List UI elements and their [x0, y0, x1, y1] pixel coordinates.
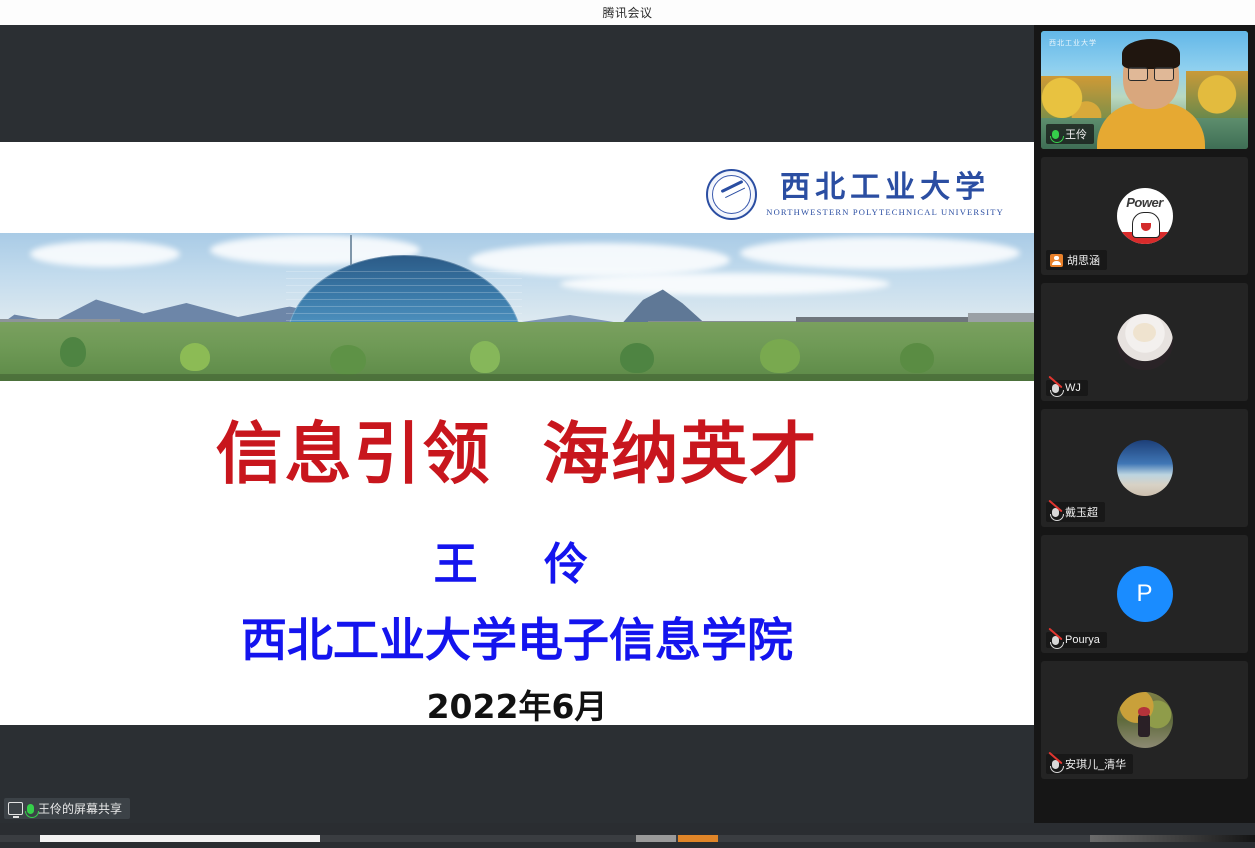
flag-mast [350, 235, 352, 265]
participant-name: 安琪儿_清华 [1065, 756, 1126, 772]
avatar-power-text: Power [1117, 195, 1173, 210]
slide-speaker-name: 王 伶 [0, 528, 1034, 592]
tencent-meeting-window: 腾讯会议 西北工业大学 NORTHWESTERN POLYTECHNICAL U… [0, 0, 1255, 848]
mic-muted-icon [1052, 384, 1059, 393]
os-taskbar[interactable] [0, 823, 1255, 848]
window-titlebar: 腾讯会议 [0, 0, 1255, 26]
participant-name-chip: 王伶 [1046, 124, 1094, 144]
participant-tile[interactable]: WJ [1041, 283, 1248, 401]
mic-muted-icon [1052, 508, 1059, 517]
avatar-mouth [1141, 223, 1151, 231]
tree-shape [60, 337, 86, 367]
participant-name: WJ [1065, 382, 1081, 394]
banner-greenery [0, 322, 1034, 381]
cloud-shape [740, 237, 1020, 269]
monitor-icon [8, 802, 23, 815]
phone-audio-icon [1050, 254, 1063, 267]
participant-name-chip: 戴玉超 [1046, 502, 1105, 522]
taskbar-tray[interactable] [1090, 835, 1255, 842]
screen-share-label: 王伶的屏幕共享 [38, 800, 122, 817]
mic-on-icon [1052, 130, 1059, 139]
participant-name-chip: WJ [1046, 380, 1088, 396]
slide-affiliation: 西北工业大学电子信息学院 [0, 604, 1034, 670]
taskbar-item-highlight[interactable] [678, 835, 718, 842]
tree-shape [760, 339, 800, 373]
slide-headline: 信息引领 海纳英才 [0, 400, 1034, 497]
shared-screen-stage[interactable]: 西北工业大学 NORTHWESTERN POLYTECHNICAL UNIVER… [0, 25, 1034, 823]
video-watermark: 西北工业大学 [1049, 38, 1097, 48]
participant-tile[interactable]: Power 胡思涵 [1041, 157, 1248, 275]
participant-name: 胡思涵 [1067, 252, 1100, 268]
participant-tile[interactable]: 戴玉超 [1041, 409, 1248, 527]
participant-name: 王伶 [1065, 126, 1087, 142]
tree-shape [620, 343, 654, 373]
participant-name-chip: 胡思涵 [1046, 250, 1107, 270]
tree-shape [330, 345, 366, 375]
letterbox-bottom [0, 725, 1034, 823]
participant-name-chip: Pourya [1046, 632, 1107, 648]
avatar: Power [1117, 188, 1173, 244]
participant-rail[interactable]: 西北工业大学 王伶 Power 胡思涵 [1034, 25, 1255, 823]
university-logo: 西北工业大学 NORTHWESTERN POLYTECHNICAL UNIVER… [706, 169, 1004, 220]
participant-name: 戴玉超 [1065, 504, 1098, 520]
logo-name-cn: 西北工业大学 [780, 173, 990, 203]
banner-bottom-shadow [0, 374, 1034, 381]
participant-name-chip: 安琪儿_清华 [1046, 754, 1133, 774]
mic-on-icon [27, 804, 34, 814]
slide-date: 2022年6月 [0, 680, 1034, 725]
participant-tile[interactable]: 西北工业大学 王伶 [1041, 31, 1248, 149]
university-seal-icon [706, 169, 757, 220]
tree-shape [470, 341, 500, 373]
participant-tile[interactable]: 安琪儿_清华 [1041, 661, 1248, 779]
taskbar-item-active[interactable] [40, 835, 320, 842]
campus-banner-image [0, 233, 1034, 381]
window-title: 腾讯会议 [602, 4, 652, 21]
avatar [1117, 692, 1173, 748]
mic-muted-icon [1052, 760, 1059, 769]
avatar-figure [1132, 212, 1160, 238]
participant-tile[interactable]: P Pourya [1041, 535, 1248, 653]
mic-muted-icon [1052, 636, 1059, 645]
cloud-shape [560, 273, 890, 295]
tree-shape [180, 343, 210, 371]
logo-name-en: NORTHWESTERN POLYTECHNICAL UNIVERSITY [766, 207, 1004, 217]
avatar-initial: P [1117, 566, 1173, 622]
presentation-slide: 西北工业大学 NORTHWESTERN POLYTECHNICAL UNIVER… [0, 142, 1034, 725]
person-hair [1122, 39, 1180, 69]
taskbar-item[interactable] [636, 835, 676, 842]
logo-wordmark: 西北工业大学 NORTHWESTERN POLYTECHNICAL UNIVER… [766, 173, 1004, 217]
participant-name: Pourya [1065, 634, 1100, 646]
tree-shape [900, 343, 934, 373]
avatar [1117, 440, 1173, 496]
avatar [1117, 314, 1173, 370]
letterbox-top [0, 25, 1034, 142]
eyeglasses-icon [1128, 67, 1174, 80]
screen-share-status: 王伶的屏幕共享 [4, 798, 130, 819]
cloud-shape [30, 241, 180, 267]
